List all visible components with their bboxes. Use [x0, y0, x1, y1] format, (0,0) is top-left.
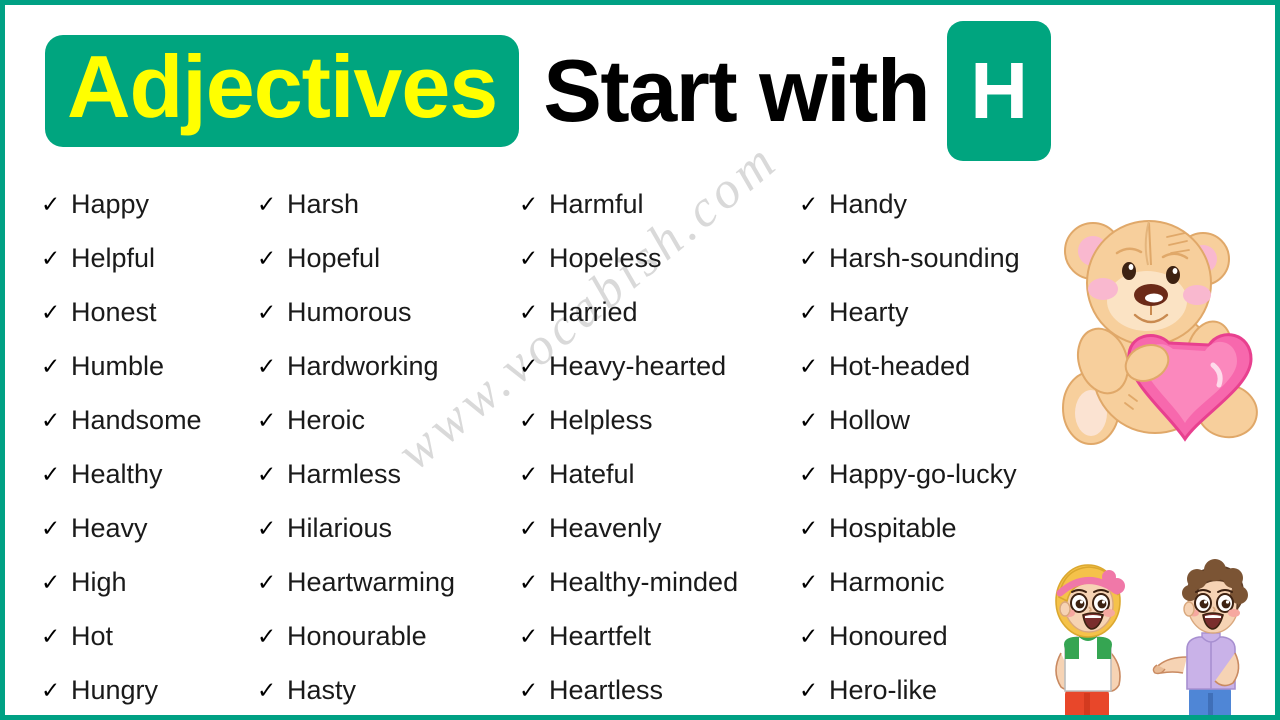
check-icon: ✓ [41, 517, 71, 540]
word-label: Happy [71, 191, 149, 218]
word-label: Healthy [71, 461, 163, 488]
list-item: ✓Heavy [41, 501, 202, 555]
check-icon: ✓ [519, 517, 549, 540]
list-item: ✓Heavenly [519, 501, 738, 555]
check-icon: ✓ [799, 409, 829, 432]
list-item: ✓Helpful [41, 231, 202, 285]
check-icon: ✓ [799, 679, 829, 702]
list-item: ✓Humorous [257, 285, 455, 339]
word-label: Happy-go-lucky [829, 461, 1017, 488]
word-column-2: ✓Harsh✓Hopeful✓Humorous✓Hardworking✓Hero… [257, 177, 455, 717]
check-icon: ✓ [257, 571, 287, 594]
title-badge: Adjectives [45, 35, 519, 147]
word-label: Heroic [287, 407, 365, 434]
list-item: ✓Hungry [41, 663, 202, 717]
check-icon: ✓ [41, 679, 71, 702]
check-icon: ✓ [257, 679, 287, 702]
word-label: Hardworking [287, 353, 439, 380]
check-icon: ✓ [257, 409, 287, 432]
check-icon: ✓ [799, 193, 829, 216]
word-label: Handy [829, 191, 907, 218]
list-item: ✓Happy [41, 177, 202, 231]
check-icon: ✓ [41, 355, 71, 378]
list-item: ✓Hot-headed [799, 339, 1020, 393]
word-label: Hasty [287, 677, 356, 704]
check-icon: ✓ [799, 625, 829, 648]
check-icon: ✓ [257, 247, 287, 270]
list-item: ✓Hardworking [257, 339, 455, 393]
check-icon: ✓ [519, 301, 549, 324]
check-icon: ✓ [799, 571, 829, 594]
list-item: ✓Humble [41, 339, 202, 393]
list-item: ✓Honourable [257, 609, 455, 663]
word-label: Heartwarming [287, 569, 455, 596]
word-label: Honoured [829, 623, 948, 650]
list-item: ✓Hearty [799, 285, 1020, 339]
check-icon: ✓ [799, 463, 829, 486]
list-item: ✓Heartfelt [519, 609, 738, 663]
word-label: Heartfelt [549, 623, 651, 650]
list-item: ✓Hollow [799, 393, 1020, 447]
title-badge-label: Adjectives [67, 45, 497, 129]
list-item: ✓Harmonic [799, 555, 1020, 609]
check-icon: ✓ [799, 301, 829, 324]
word-label: Harsh [287, 191, 359, 218]
check-icon: ✓ [257, 625, 287, 648]
word-label: Honourable [287, 623, 427, 650]
word-label: Heavy [71, 515, 148, 542]
check-icon: ✓ [41, 571, 71, 594]
list-item: ✓Hateful [519, 447, 738, 501]
title-rest-label: Start with [543, 47, 929, 135]
word-label: Hearty [829, 299, 909, 326]
check-icon: ✓ [519, 463, 549, 486]
letter-badge-label: H [970, 51, 1028, 131]
check-icon: ✓ [519, 571, 549, 594]
word-label: Hero-like [829, 677, 937, 704]
check-icon: ✓ [257, 301, 287, 324]
list-item: ✓Heroic [257, 393, 455, 447]
list-item: ✓Hilarious [257, 501, 455, 555]
word-label: Heavy-hearted [549, 353, 726, 380]
list-item: ✓Healthy [41, 447, 202, 501]
word-label: Humorous [287, 299, 412, 326]
list-item: ✓High [41, 555, 202, 609]
word-label: High [71, 569, 127, 596]
word-label: Hopeless [549, 245, 662, 272]
check-icon: ✓ [41, 247, 71, 270]
list-item: ✓Happy-go-lucky [799, 447, 1020, 501]
word-label: Hateful [549, 461, 635, 488]
word-label: Honest [71, 299, 157, 326]
word-label: Harmless [287, 461, 401, 488]
word-column-3: ✓Harmful✓Hopeless✓Harried✓Heavy-hearted✓… [519, 177, 738, 717]
word-label: Hot-headed [829, 353, 970, 380]
word-label: Hilarious [287, 515, 392, 542]
list-item: ✓Hasty [257, 663, 455, 717]
list-item: ✓Healthy-minded [519, 555, 738, 609]
adjectives-list: ✓Happy✓Helpful✓Honest✓Humble✓Handsome✓He… [5, 177, 1280, 720]
check-icon: ✓ [41, 301, 71, 324]
list-item: ✓Harsh [257, 177, 455, 231]
list-item: ✓Harmful [519, 177, 738, 231]
word-label: Helpful [71, 245, 155, 272]
check-icon: ✓ [519, 247, 549, 270]
check-icon: ✓ [257, 193, 287, 216]
word-label: Handsome [71, 407, 202, 434]
word-label: Hungry [71, 677, 158, 704]
check-icon: ✓ [257, 517, 287, 540]
word-label: Helpless [549, 407, 653, 434]
check-icon: ✓ [519, 409, 549, 432]
list-item: ✓Handy [799, 177, 1020, 231]
check-icon: ✓ [41, 625, 71, 648]
check-icon: ✓ [519, 625, 549, 648]
word-label: Harmonic [829, 569, 945, 596]
word-label: Heavenly [549, 515, 662, 542]
word-column-4: ✓Handy✓Harsh-sounding✓Hearty✓Hot-headed✓… [799, 177, 1020, 717]
list-item: ✓Harmless [257, 447, 455, 501]
word-label: Hot [71, 623, 113, 650]
check-icon: ✓ [41, 193, 71, 216]
check-icon: ✓ [257, 463, 287, 486]
word-label: Hospitable [829, 515, 957, 542]
list-item: ✓Honest [41, 285, 202, 339]
list-item: ✓Honoured [799, 609, 1020, 663]
word-label: Harried [549, 299, 638, 326]
poster-page: Adjectives Start with H www.vocabish.com [0, 0, 1280, 720]
word-label: Harmful [549, 191, 644, 218]
list-item: ✓Hospitable [799, 501, 1020, 555]
letter-badge: H [947, 21, 1051, 161]
list-item: ✓Hopeful [257, 231, 455, 285]
list-item: ✓Harsh-sounding [799, 231, 1020, 285]
check-icon: ✓ [519, 355, 549, 378]
list-item: ✓Heavy-hearted [519, 339, 738, 393]
list-item: ✓Helpless [519, 393, 738, 447]
check-icon: ✓ [41, 463, 71, 486]
list-item: ✓Heartwarming [257, 555, 455, 609]
check-icon: ✓ [519, 679, 549, 702]
check-icon: ✓ [519, 193, 549, 216]
word-label: Hollow [829, 407, 910, 434]
word-label: Hopeful [287, 245, 380, 272]
poster-header: Adjectives Start with H [5, 5, 1280, 177]
word-label: Healthy-minded [549, 569, 738, 596]
list-item: ✓Handsome [41, 393, 202, 447]
check-icon: ✓ [41, 409, 71, 432]
list-item: ✓Hopeless [519, 231, 738, 285]
list-item: ✓Hot [41, 609, 202, 663]
list-item: ✓Harried [519, 285, 738, 339]
list-item: ✓Hero-like [799, 663, 1020, 717]
check-icon: ✓ [257, 355, 287, 378]
check-icon: ✓ [799, 355, 829, 378]
word-label: Heartless [549, 677, 663, 704]
word-label: Harsh-sounding [829, 245, 1020, 272]
word-label: Humble [71, 353, 164, 380]
list-item: ✓Heartless [519, 663, 738, 717]
check-icon: ✓ [799, 517, 829, 540]
check-icon: ✓ [799, 247, 829, 270]
word-column-1: ✓Happy✓Helpful✓Honest✓Humble✓Handsome✓He… [41, 177, 202, 717]
